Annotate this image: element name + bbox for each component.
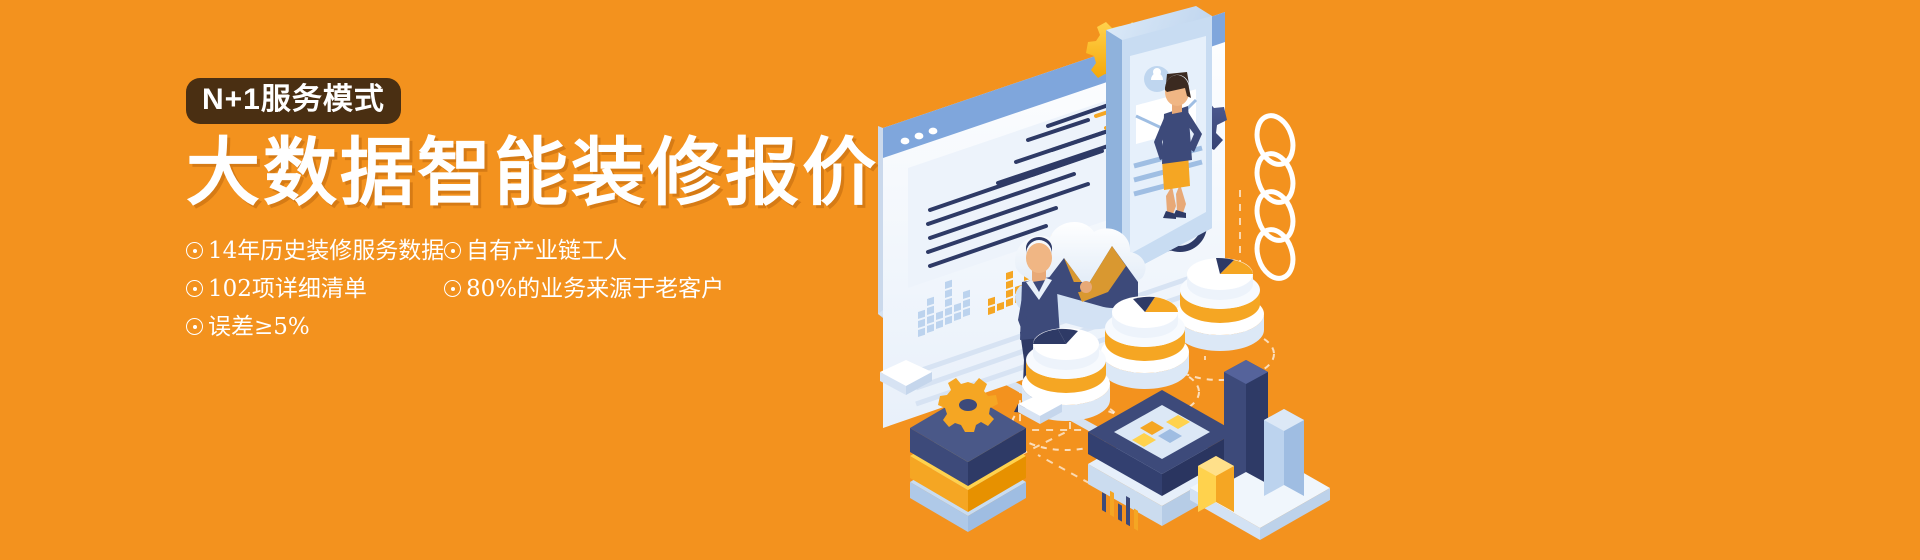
page-title: 大数据智能装修报价 xyxy=(186,136,886,210)
list-item-label: 误差≥5% xyxy=(208,314,310,340)
list-item: 102项详细清单 xyxy=(186,270,444,308)
bullet-dot-icon xyxy=(186,280,203,297)
ring-stack-icon xyxy=(1251,111,1299,283)
bullet-dot-icon xyxy=(186,242,203,259)
bullet-dot-icon xyxy=(444,280,461,297)
list-item-label: 自有产业链工人 xyxy=(466,238,627,264)
feature-list: 14年历史装修服务数据 自有产业链工人 102项详细清单 80%的业务来源于老客… xyxy=(186,232,886,346)
list-item-label: 102项详细清单 xyxy=(208,276,367,302)
list-item-label: 14年历史装修服务数据 xyxy=(208,238,444,264)
banner-copy: N+1服务模式 大数据智能装修报价 14年历史装修服务数据 自有产业链工人 10… xyxy=(186,78,886,346)
isometric-illustration xyxy=(820,0,1380,560)
promo-banner: N+1服务模式 大数据智能装修报价 14年历史装修服务数据 自有产业链工人 10… xyxy=(0,0,1920,560)
bullet-dot-icon xyxy=(186,318,203,335)
list-item-label: 80%的业务来源于老客户 xyxy=(466,276,724,302)
bullet-dot-icon xyxy=(444,242,461,259)
list-item: 误差≥5% xyxy=(186,308,444,346)
list-item: 14年历史装修服务数据 xyxy=(186,232,444,270)
service-mode-badge: N+1服务模式 xyxy=(186,78,401,124)
